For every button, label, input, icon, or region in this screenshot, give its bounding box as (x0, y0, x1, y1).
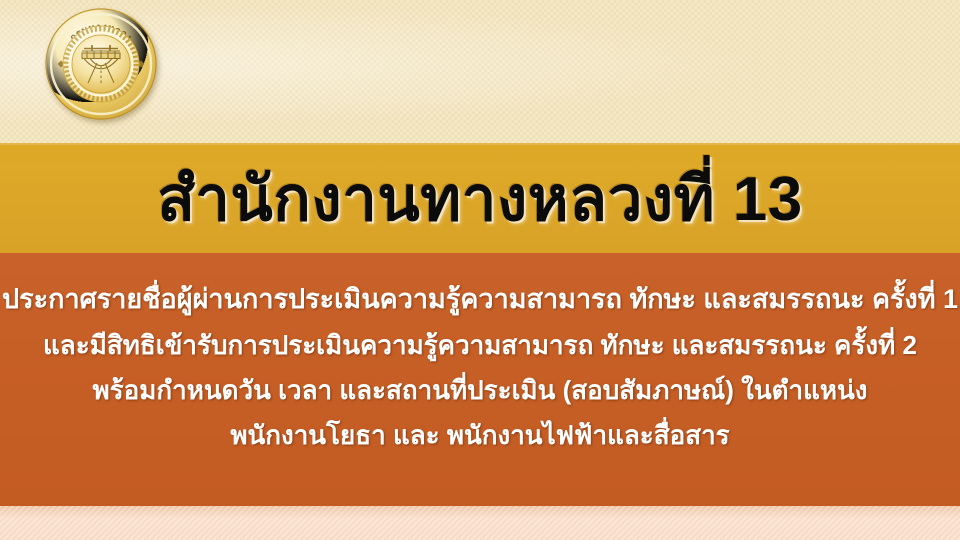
title-band: สำนักงานทางหลวงที่ 13 (0, 143, 960, 253)
page-title: สำนักงานทางหลวงที่ 13 (157, 169, 803, 231)
announcement-poster: กรมทางหลวง สำนักงานทางหลวงที่ 13 (0, 0, 960, 540)
announcement-line-4: พนักงานโยธา และ พนักงานไฟฟ้าและสื่อสาร (230, 422, 729, 448)
announcement-line-3: พร้อมกำหนดวัน เวลา และสถานที่ประเมิน (สอ… (93, 377, 868, 403)
announcement-line-1: ประกาศรายชื่อผู้ผ่านการประเมินความรู้ควา… (2, 286, 958, 313)
announcement-body: ประกาศรายชื่อผู้ผ่านการประเมินความรู้ควา… (0, 253, 960, 506)
department-seal-logo: กรมทางหลวง สำนักงานทางหลวงที่ 13 (44, 7, 158, 121)
footer-background (0, 506, 960, 540)
announcement-line-2: และมีสิทธิเข้ารับการประเมินความรู้ความสา… (43, 332, 917, 358)
